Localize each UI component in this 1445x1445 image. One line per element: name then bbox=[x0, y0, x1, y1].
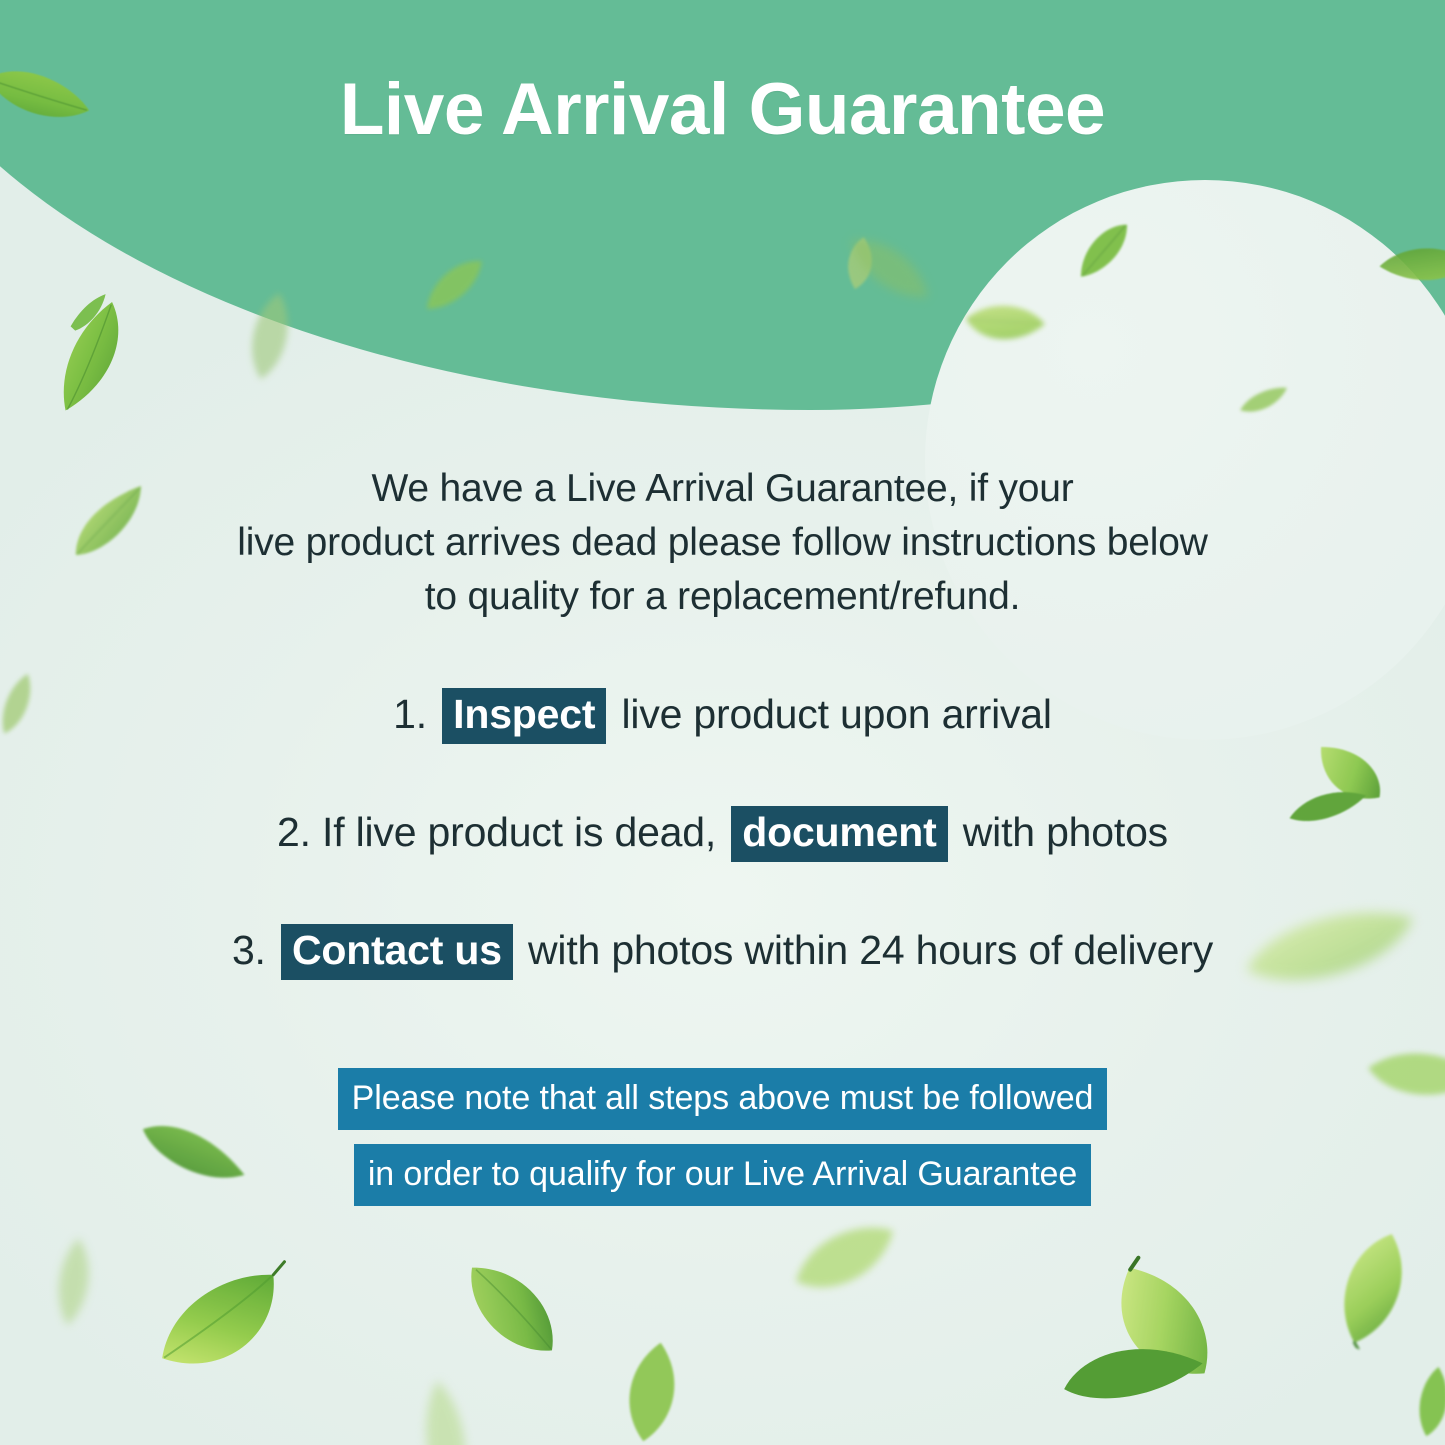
intro-line-2: live product arrives dead please follow … bbox=[0, 516, 1445, 570]
poster-content: We have a Live Arrival Guarantee, if you… bbox=[0, 0, 1445, 1445]
footer-note: Please note that all steps above must be… bbox=[0, 1068, 1445, 1206]
live-arrival-guarantee-poster: Live Arrival Guarantee We have a Live Ar… bbox=[0, 0, 1445, 1445]
intro-line-3: to quality for a replacement/refund. bbox=[0, 570, 1445, 624]
step-item: 2. If live product is dead, document wit… bbox=[0, 804, 1445, 862]
footer-note-line-2: in order to qualify for our Live Arrival… bbox=[354, 1144, 1091, 1206]
step-number: 3. bbox=[232, 927, 266, 973]
step-highlight: document bbox=[731, 806, 947, 862]
intro-paragraph: We have a Live Arrival Guarantee, if you… bbox=[0, 462, 1445, 624]
step-text-after: with photos within 24 hours of delivery bbox=[528, 927, 1213, 973]
intro-line-1: We have a Live Arrival Guarantee, if you… bbox=[0, 462, 1445, 516]
step-number: 2. bbox=[277, 809, 311, 855]
step-number: 1. bbox=[393, 691, 427, 737]
step-text-after: with photos bbox=[963, 809, 1168, 855]
steps-list: 1. Inspect live product upon arrival 2. … bbox=[0, 686, 1445, 980]
step-highlight: Inspect bbox=[442, 688, 606, 744]
step-item: 1. Inspect live product upon arrival bbox=[0, 686, 1445, 744]
step-highlight: Contact us bbox=[281, 924, 513, 980]
footer-note-line-1: Please note that all steps above must be… bbox=[338, 1068, 1108, 1130]
step-item: 3. Contact us with photos within 24 hour… bbox=[0, 922, 1445, 980]
step-text-after: live product upon arrival bbox=[622, 691, 1052, 737]
step-text-before: If live product is dead, bbox=[322, 809, 716, 855]
